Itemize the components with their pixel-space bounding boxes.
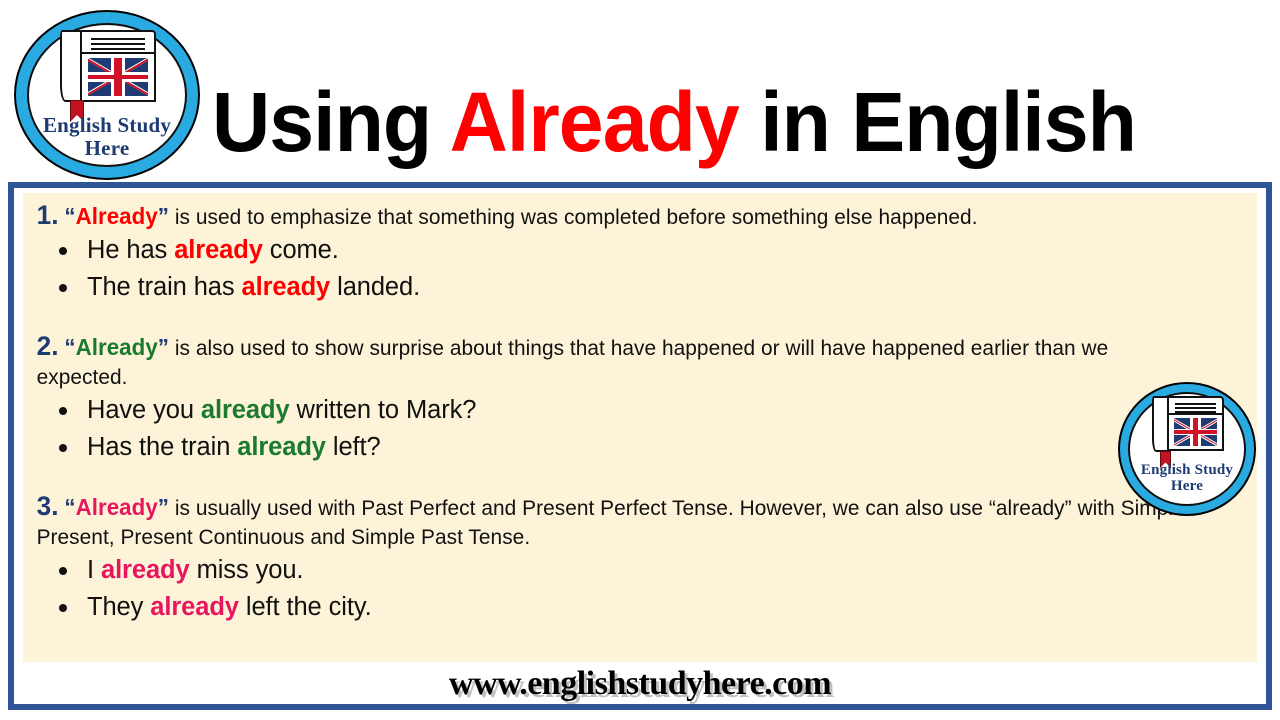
example-post: miss you.: [190, 556, 304, 584]
rule-2-quote-close: ”: [158, 334, 169, 360]
rule-2-keyword: Already: [76, 334, 158, 360]
example-post: landed.: [330, 273, 420, 301]
rule-3-examples: I already miss you. They already left th…: [23, 552, 1257, 626]
page-title-highlight: Already: [450, 75, 739, 169]
example-keyword: already: [101, 556, 190, 584]
rule-1-quote-close: ”: [158, 203, 169, 229]
bullet-icon: [59, 604, 67, 612]
example-pre: The train has: [87, 273, 242, 301]
rule-3-quote-close: ”: [158, 494, 169, 520]
brand-logo: English Study Here: [14, 10, 200, 180]
example-keyword: already: [150, 593, 239, 621]
logo-text-line2: Here: [1118, 478, 1256, 494]
example-pre: They: [87, 593, 150, 621]
logo-text: English Study Here: [1118, 462, 1256, 494]
logo-text-line1: English Study: [14, 114, 200, 137]
list-item: I already miss you.: [23, 552, 1257, 589]
example-keyword: already: [201, 396, 290, 424]
section-spacer: [23, 466, 1257, 492]
example-keyword: already: [174, 236, 263, 264]
rule-2-examples: Have you already written to Mark? Has th…: [23, 392, 1257, 466]
bullet-icon: [59, 567, 67, 575]
page-title: Using Already in English: [212, 74, 1230, 170]
rule-1-keyword: Already: [76, 203, 158, 229]
example-keyword: already: [242, 273, 331, 301]
rule-3-lead: 3. “Already” is usually used with Past P…: [23, 492, 1220, 552]
header: English Study Here Using Already in Engl…: [0, 0, 1280, 182]
page-title-post: in English: [739, 75, 1136, 169]
rule-3-keyword: Already: [76, 494, 158, 520]
example-pre: Have you: [87, 396, 201, 424]
rule-2-lead: 2. “Already” is also used to show surpri…: [23, 332, 1220, 392]
rule-1-lead: 1. “Already” is used to emphasize that s…: [23, 201, 1220, 232]
example-keyword: already: [237, 433, 326, 461]
book-icon: [60, 30, 156, 102]
list-item: They already left the city.: [23, 589, 1257, 626]
example-pre: I: [87, 556, 101, 584]
bullet-icon: [59, 444, 67, 452]
list-item: Have you already written to Mark?: [23, 392, 1257, 429]
rule-block-3: 3. “Already” is usually used with Past P…: [23, 492, 1257, 626]
book-pages-icon: [80, 30, 156, 54]
rule-1-quote-open: “: [64, 203, 75, 229]
example-post: left the city.: [239, 593, 372, 621]
rule-3-quote-open: “: [64, 494, 75, 520]
example-post: written to Mark?: [290, 396, 477, 424]
rule-block-2: 2. “Already” is also used to show surpri…: [23, 332, 1257, 466]
book-icon: [1152, 396, 1224, 452]
lesson-panel: 1. “Already” is used to emphasize that s…: [23, 193, 1257, 662]
example-post: left?: [326, 433, 381, 461]
logo-text-line2: Here: [14, 137, 200, 160]
page-title-pre: Using: [212, 75, 450, 169]
rule-block-1: 1. “Already” is used to emphasize that s…: [23, 201, 1257, 306]
logo-text-line1: English Study: [1118, 462, 1256, 478]
example-pre: Has the train: [87, 433, 237, 461]
book-spine-icon: [1152, 396, 1169, 452]
bullet-icon: [59, 247, 67, 255]
watermark-logo: English Study Here: [1118, 382, 1256, 516]
footer-url: www.englishstudyhere.com: [23, 664, 1257, 704]
rule-1-lead-text: is used to emphasize that something was …: [169, 205, 978, 229]
rule-1-number: 1.: [37, 200, 59, 230]
content-frame: 1. “Already” is used to emphasize that s…: [8, 182, 1272, 710]
list-item: Has the train already left?: [23, 429, 1257, 466]
logo-text: English Study Here: [14, 114, 200, 159]
bullet-icon: [59, 284, 67, 292]
example-post: come.: [263, 236, 339, 264]
book-spine-icon: [60, 30, 82, 102]
rule-3-number: 3.: [37, 491, 59, 521]
bullet-icon: [59, 407, 67, 415]
rule-2-number: 2.: [37, 331, 59, 361]
list-item: He has already come.: [23, 232, 1257, 269]
rule-2-quote-open: “: [64, 334, 75, 360]
rule-3-lead-text: is usually used with Past Perfect and Pr…: [37, 496, 1185, 549]
section-spacer: [23, 306, 1257, 332]
list-item: The train has already landed.: [23, 269, 1257, 306]
example-pre: He has: [87, 236, 174, 264]
uk-flag-icon: [80, 52, 156, 102]
rule-1-examples: He has already come. The train has alrea…: [23, 232, 1257, 306]
rule-2-lead-text: is also used to show surprise about thin…: [37, 336, 1109, 389]
uk-flag-icon: [1167, 413, 1224, 451]
